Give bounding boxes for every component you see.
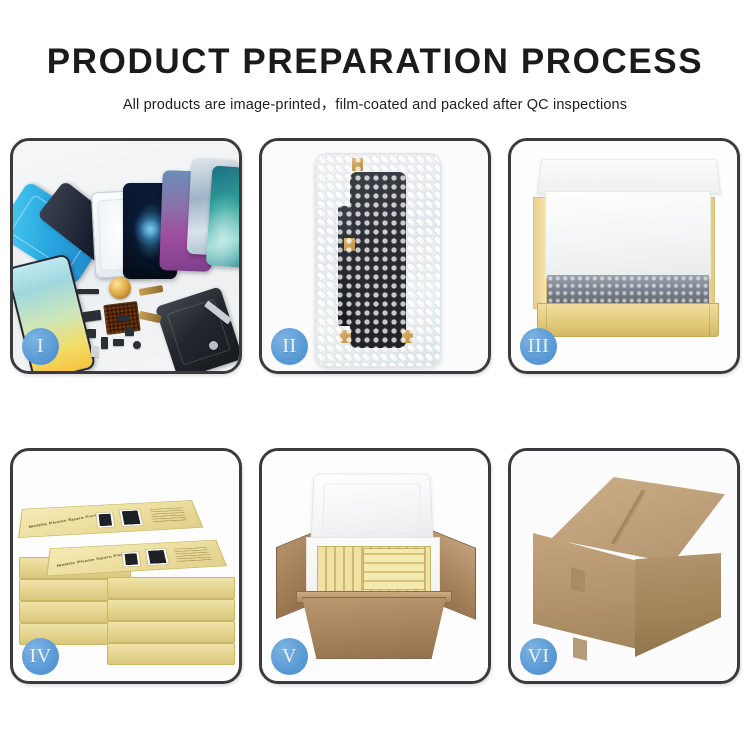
process-step-card-1[interactable]: I [10, 138, 242, 374]
carton-right-face [635, 553, 721, 657]
foam-box-icon [306, 537, 440, 599]
flex-cable-icon [338, 206, 352, 326]
process-step-card-6[interactable]: VI [508, 448, 740, 684]
label-window-icon [121, 551, 141, 567]
small-part-icon [87, 329, 96, 338]
kraft-box-layer [107, 643, 235, 665]
kraft-box-layer [107, 621, 235, 643]
process-step-card-4[interactable]: Mobile Phone Spare Parts Mobile Phone Sp… [10, 448, 242, 684]
small-part-icon [209, 341, 218, 350]
phone-back-housing-icon [155, 286, 239, 371]
speaker-module-icon [109, 277, 131, 299]
header: PRODUCT PREPARATION PROCESS All products… [0, 0, 750, 114]
tape-piece-icon [340, 330, 351, 343]
bubble-wrapped-units-icon [547, 275, 709, 305]
kraft-box-layer [107, 577, 235, 599]
phone-display-teal-icon [206, 165, 239, 268]
product-preparation-infographic: PRODUCT PREPARATION PROCESS All products… [0, 0, 750, 750]
label-window-icon [95, 512, 115, 528]
tape-piece-icon [402, 330, 413, 343]
page-subtitle: All products are image-printed，film-coat… [0, 93, 750, 114]
kraft-box-stack-icon: Mobile Phone Spare Parts Mobile Phone Sp… [19, 473, 239, 669]
step-badge-3: III [520, 328, 557, 365]
box-lid-icon [537, 159, 721, 194]
labelled-box-top-1: Mobile Phone Spare Parts [18, 500, 203, 538]
small-part-icon [113, 339, 124, 346]
label-spec-lines-icon [174, 547, 211, 562]
box-label-text: Mobile Phone Spare Parts [56, 552, 128, 568]
kraft-box-front-icon [537, 303, 719, 337]
sealed-carton-icon [529, 477, 725, 663]
wrapped-part-icon [350, 172, 406, 348]
label-spec-lines-icon [150, 507, 187, 522]
step-badge-4: IV [22, 638, 59, 675]
foam-sheet-icon [545, 191, 711, 279]
step-badge-5: V [271, 638, 308, 675]
labelled-box-top-2: Mobile Phone Spare Parts [46, 540, 227, 576]
box-label-text: Mobile Phone Spare Parts [28, 513, 100, 529]
small-part-icon [133, 341, 141, 349]
flex-cable-icon [139, 285, 164, 296]
process-step-card-2[interactable]: II [259, 138, 491, 374]
process-step-card-5[interactable]: V [259, 448, 491, 684]
small-part-icon [117, 315, 130, 321]
small-part-icon [125, 327, 134, 336]
small-part-icon [101, 337, 108, 349]
small-part-icon [82, 310, 101, 322]
carton-tape-piece-icon [573, 637, 587, 660]
step-badge-2: II [271, 328, 308, 365]
foam-box-lid-icon [310, 474, 434, 547]
tape-piece-icon [352, 158, 363, 171]
small-part-icon [91, 346, 99, 357]
small-part-icon [77, 289, 99, 294]
bubble-wrap-bag-icon [315, 153, 441, 367]
process-step-grid: I II [10, 138, 740, 684]
kraft-boxes-inside-icon [363, 548, 425, 590]
label-window-icon [119, 509, 144, 527]
step-badge-6: VI [520, 638, 557, 675]
process-step-card-3[interactable]: III [508, 138, 740, 374]
page-title: PRODUCT PREPARATION PROCESS [0, 44, 750, 79]
step-badge-1: I [22, 328, 59, 365]
tape-piece-icon [344, 238, 355, 251]
carton-front-icon [302, 597, 446, 659]
kraft-box-layer [107, 599, 235, 621]
carton-tape-piece-icon [571, 567, 585, 592]
label-window-icon [145, 548, 170, 566]
